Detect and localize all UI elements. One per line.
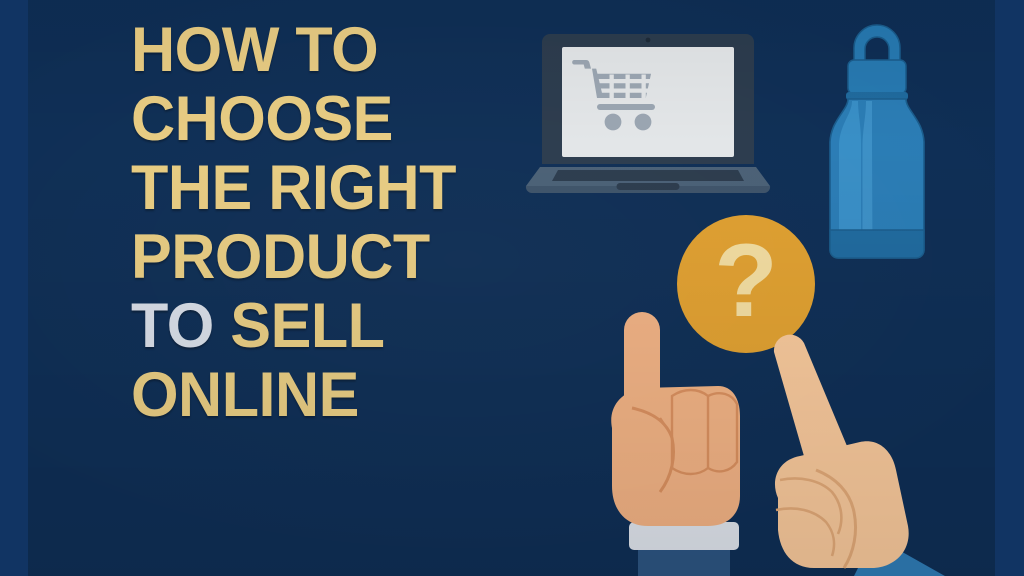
laptop-illustration — [528, 28, 768, 208]
headline-line-2: CHOOSE — [131, 85, 519, 154]
letterbox-bar-left — [0, 0, 28, 576]
headline-line-1: HOW TO — [131, 16, 519, 85]
headline-line-4: PRODUCT — [131, 223, 519, 292]
letterbox-bar-right — [995, 0, 1024, 576]
pointing-hand-left — [580, 300, 780, 576]
headline-line-5: TO SELL — [131, 292, 519, 361]
headline-word-to: TO — [131, 291, 230, 361]
headline-line-6: ONLINE — [131, 361, 519, 430]
water-bottle-illustration — [814, 4, 940, 282]
headline-word-sell: SELL — [230, 291, 384, 361]
artwork-canvas: HOW TO CHOOSE THE RIGHT PRODUCT TO SELL … — [28, 0, 995, 576]
headline-block: HOW TO CHOOSE THE RIGHT PRODUCT TO SELL … — [131, 16, 531, 430]
video-thumbnail: HOW TO CHOOSE THE RIGHT PRODUCT TO SELL … — [0, 0, 1024, 576]
headline-line-3: THE RIGHT — [131, 154, 519, 223]
pointing-hand-right — [756, 330, 995, 576]
